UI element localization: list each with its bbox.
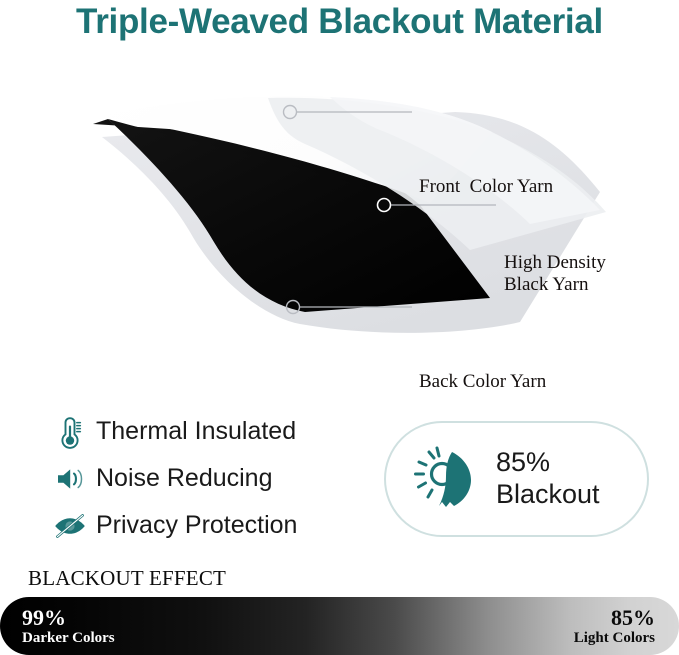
feature-label: Privacy Protection: [96, 511, 297, 540]
feature-item-noise-reducing: Noise Reducing: [48, 455, 368, 502]
blackout-badge-text: 85% Blackout: [496, 447, 600, 511]
sun-curtain-icon: [386, 444, 496, 514]
page-title: Triple-Weaved Blackout Material: [0, 2, 679, 42]
effect-left-percent: 99%: [22, 606, 115, 630]
blackout-effect-heading: BLACKOUT EFFECT: [28, 566, 226, 591]
blackout-percent: 85%: [496, 447, 600, 479]
feature-label: Noise Reducing: [96, 464, 273, 493]
eye-slash-icon: [48, 512, 92, 540]
fabric-layers-svg: [0, 72, 679, 342]
blackout-word: Blackout: [496, 479, 600, 511]
feature-list: Thermal Insulated Noise Reducing Privacy…: [48, 408, 368, 549]
effect-left-caption: Darker Colors: [22, 630, 115, 647]
blackout-effect-gradient-bar: 99% Darker Colors 85% Light Colors: [0, 597, 679, 655]
callout-label-back: Back Color Yarn: [419, 371, 546, 393]
effect-right-caption: Light Colors: [574, 630, 655, 647]
callout-label-front: Front Color Yarn: [419, 176, 553, 198]
feature-item-privacy-protection: Privacy Protection: [48, 502, 368, 549]
effect-right-percent: 85%: [574, 606, 655, 630]
feature-item-thermal-insulated: Thermal Insulated: [48, 408, 368, 455]
callout-label-high-density: High Density Black Yarn: [504, 252, 606, 297]
feature-label: Thermal Insulated: [96, 417, 296, 446]
speaker-icon: [48, 465, 92, 493]
blackout-badge: 85% Blackout: [384, 421, 649, 537]
fabric-layers-diagram: Front Color Yarn High Density Black Yarn…: [0, 72, 679, 342]
thermometer-icon: [48, 415, 92, 449]
effect-right-end: 85% Light Colors: [574, 606, 655, 646]
effect-left-end: 99% Darker Colors: [22, 606, 115, 646]
